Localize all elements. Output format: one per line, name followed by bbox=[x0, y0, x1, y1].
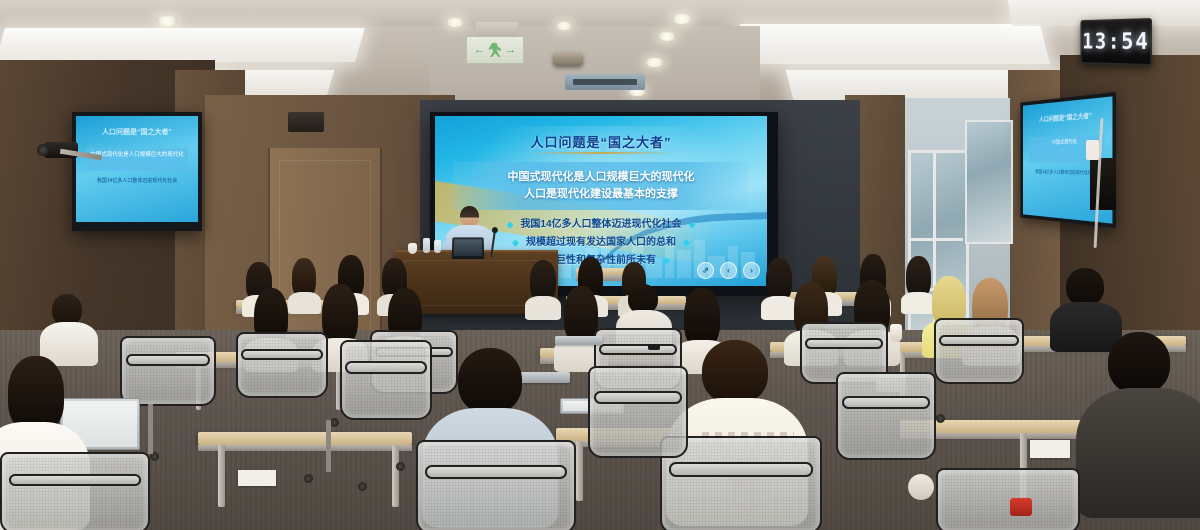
slide-prev-button[interactable]: ‹ bbox=[720, 262, 737, 279]
clock-time: 13:54 bbox=[1082, 29, 1150, 55]
paper-cup bbox=[408, 243, 417, 254]
chair-post bbox=[326, 420, 331, 472]
chair-caster bbox=[936, 414, 945, 423]
water-bottle bbox=[423, 238, 430, 253]
downlight-icon bbox=[156, 16, 178, 26]
water-bottle bbox=[1010, 498, 1032, 516]
chair-backrest bbox=[236, 332, 328, 398]
chair-backrest bbox=[588, 366, 688, 458]
mesh-chair[interactable] bbox=[588, 366, 684, 454]
downlight-icon bbox=[556, 22, 572, 30]
paper-cup bbox=[890, 324, 902, 342]
chair-lumbar-bar bbox=[599, 344, 677, 354]
paper-sheet bbox=[238, 470, 276, 486]
student-torso bbox=[1076, 388, 1200, 518]
slide-title: 人口问题是“国之大者” bbox=[435, 132, 767, 151]
mesh-chair[interactable] bbox=[416, 440, 572, 530]
student-head bbox=[1108, 332, 1170, 394]
chair-caster bbox=[396, 462, 405, 471]
diamond-bullet-icon bbox=[663, 258, 670, 265]
slide-share-button[interactable]: ⇗ bbox=[697, 262, 714, 279]
chair-lumbar-bar bbox=[126, 354, 211, 365]
running-person-icon bbox=[488, 43, 502, 57]
chair-caster bbox=[330, 418, 339, 427]
tv-left-bullets: 我国14亿多人口整体迈进现代化社会 bbox=[76, 177, 198, 185]
mesh-chair[interactable] bbox=[0, 452, 146, 530]
power-adapter bbox=[1086, 140, 1099, 160]
chair-lumbar-bar bbox=[805, 338, 883, 348]
student-torso bbox=[1050, 302, 1122, 352]
chair-backrest bbox=[120, 336, 216, 406]
exit-sign: ← → bbox=[466, 36, 524, 64]
air-vent bbox=[565, 74, 645, 90]
chair-lumbar-bar bbox=[9, 474, 141, 487]
exit-arrow-right-icon: → bbox=[505, 45, 516, 56]
ceiling-panel-light bbox=[740, 24, 1050, 64]
chair-post bbox=[148, 404, 153, 454]
wall-speaker bbox=[288, 112, 324, 132]
chair-caster bbox=[358, 482, 367, 491]
slide-bullet-text: 我国14亿多人口整体迈进现代化社会 bbox=[520, 216, 681, 234]
mesh-chair[interactable] bbox=[236, 332, 324, 394]
chair-lumbar-bar bbox=[669, 462, 812, 476]
chair-lumbar-bar bbox=[594, 391, 682, 405]
slide-next-button[interactable]: › bbox=[743, 262, 760, 279]
student-torso bbox=[288, 292, 321, 314]
ceiling-panel-light bbox=[0, 28, 365, 62]
diamond-bullet-icon bbox=[683, 240, 690, 247]
window-pane bbox=[965, 120, 1013, 244]
chair-backrest bbox=[0, 452, 150, 530]
mesh-chair[interactable] bbox=[934, 318, 1020, 380]
laptop-keyboard[interactable] bbox=[555, 336, 603, 345]
student-torso bbox=[901, 292, 935, 314]
student-torso bbox=[761, 296, 797, 320]
chair-backrest bbox=[936, 468, 1080, 530]
slide-band-line: 中国式现代化是人口规模巨大的现代化 bbox=[453, 169, 749, 186]
slide-title-rule bbox=[526, 152, 676, 154]
slide-highlight-band: 中国式现代化是人口规模巨大的现代化 人口是现代化建设最基本的支撑 bbox=[453, 162, 749, 210]
chair-backrest bbox=[934, 318, 1024, 384]
paper-sheet bbox=[1030, 440, 1070, 458]
diamond-bullet-icon bbox=[506, 222, 513, 229]
desk-leg bbox=[218, 445, 225, 507]
student-desk bbox=[198, 432, 412, 445]
chair-lumbar-bar bbox=[345, 361, 426, 373]
chair-lumbar-bar bbox=[425, 465, 566, 479]
wall-tv-left: 人口问题是“国之大者” 中国式现代化是人口规模巨大的现代化 我国14亿多人口整体… bbox=[72, 112, 202, 231]
chair-backrest bbox=[836, 372, 936, 460]
chair-lumbar-bar bbox=[842, 396, 930, 409]
student-head bbox=[1066, 268, 1104, 306]
student-hair bbox=[684, 288, 720, 348]
presenter-laptop[interactable] bbox=[452, 237, 485, 259]
student-head bbox=[458, 348, 522, 414]
downlight-icon bbox=[446, 18, 464, 27]
wall-digital-clock: 13:54 bbox=[1080, 18, 1152, 66]
chair-caster bbox=[304, 474, 313, 483]
student-hair bbox=[8, 356, 64, 432]
mesh-chair[interactable] bbox=[936, 468, 1076, 530]
diamond-bullet-icon bbox=[512, 240, 519, 247]
ceiling-projector bbox=[553, 52, 583, 66]
mesh-chair[interactable] bbox=[120, 336, 212, 402]
slide-navigation-controls[interactable]: ⇗ ‹ › bbox=[697, 262, 760, 279]
chair-lumbar-bar bbox=[939, 335, 1019, 346]
tv-left-title: 人口问题是“国之大者” bbox=[76, 127, 198, 137]
tv-left-screen: 人口问题是“国之大者” 中国式现代化是人口规模巨大的现代化 我国14亿多人口整体… bbox=[76, 116, 198, 222]
chair-backrest bbox=[416, 440, 576, 530]
mesh-chair[interactable] bbox=[836, 372, 932, 456]
classroom-scene: ← → bbox=[0, 0, 1200, 530]
student-torso bbox=[525, 296, 561, 320]
shoe bbox=[908, 474, 934, 500]
smartphone[interactable] bbox=[648, 344, 660, 350]
diamond-bullet-icon bbox=[689, 222, 696, 229]
chair-lumbar-bar bbox=[241, 349, 322, 360]
desk-leg bbox=[392, 445, 399, 507]
downlight-icon bbox=[645, 58, 664, 67]
presenter-head bbox=[460, 206, 479, 227]
downlight-icon bbox=[672, 14, 692, 24]
tv-right-title: 人口问题是“国之大者” bbox=[1023, 109, 1112, 125]
downlight-icon bbox=[658, 32, 676, 41]
water-bottle bbox=[434, 240, 441, 253]
student-head bbox=[702, 340, 768, 404]
slide-band-line: 人口是现代化建设最基本的支撑 bbox=[453, 186, 749, 203]
tv-wall-mount bbox=[1090, 158, 1116, 210]
mesh-chair[interactable] bbox=[340, 340, 428, 416]
desk-leg bbox=[576, 441, 583, 501]
exit-arrow-left-icon: ← bbox=[474, 45, 485, 56]
chair-backrest bbox=[340, 340, 432, 420]
